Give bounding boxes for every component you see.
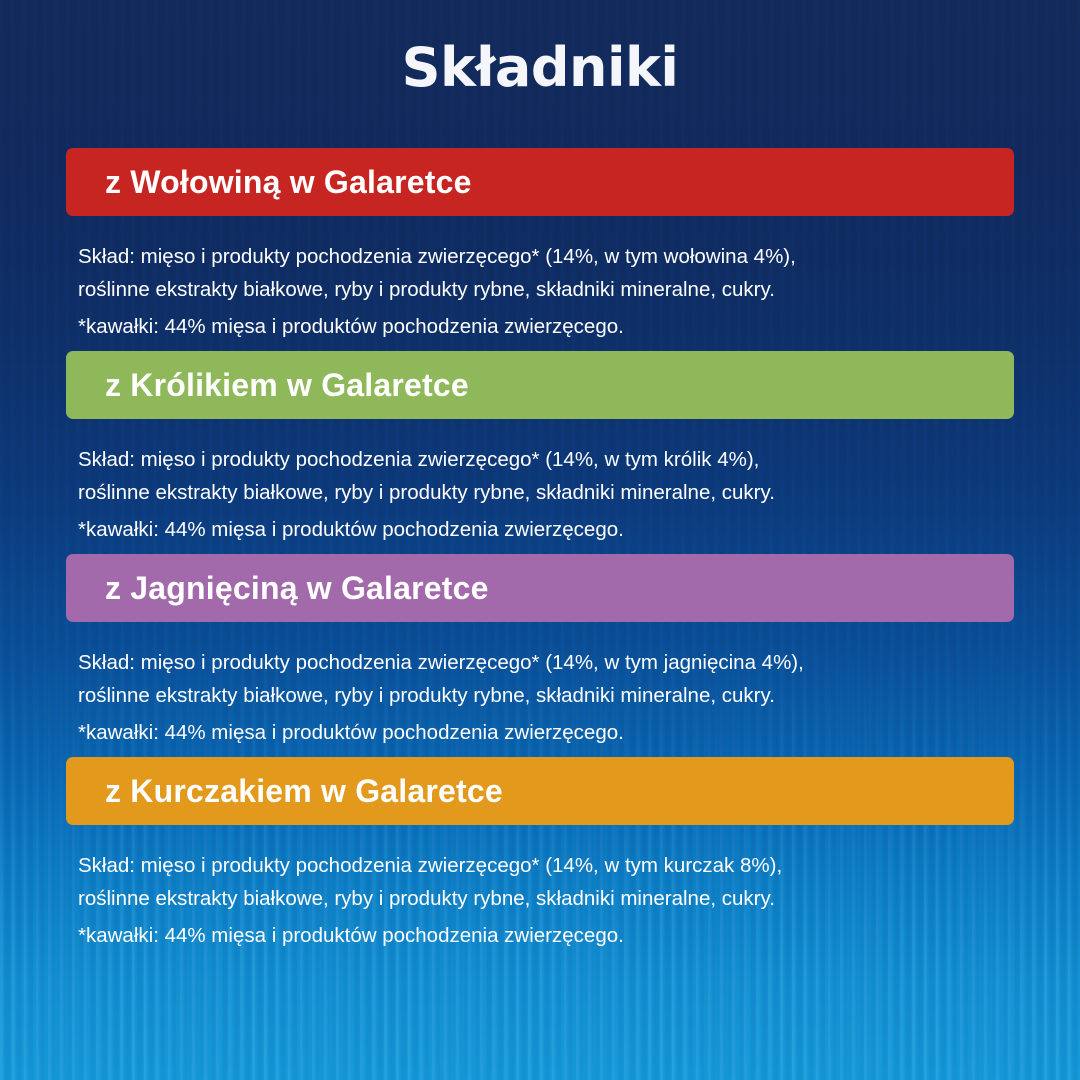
variant-chicken: z Kurczakiem w Galaretce Skład: mięso i … bbox=[0, 757, 1080, 952]
variant-ingredients-rabbit: Skład: mięso i produkty pochodzenia zwie… bbox=[0, 419, 1080, 546]
ingredients-line-1: Skład: mięso i produkty pochodzenia zwie… bbox=[78, 646, 1010, 679]
variant-ingredients-chicken: Skład: mięso i produkty pochodzenia zwie… bbox=[0, 825, 1080, 952]
variant-list: z Wołowiną w Galaretce Skład: mięso i pr… bbox=[0, 148, 1080, 960]
variant-banner-label-rabbit: z Królikiem w Galaretce bbox=[66, 367, 469, 404]
variant-beef: z Wołowiną w Galaretce Skład: mięso i pr… bbox=[0, 148, 1080, 343]
variant-banner-beef: z Wołowiną w Galaretce bbox=[66, 148, 1014, 216]
ingredients-line-1: Skład: mięso i produkty pochodzenia zwie… bbox=[78, 849, 1010, 882]
ingredients-line-2: roślinne ekstrakty białkowe, ryby i prod… bbox=[78, 476, 1010, 509]
ingredients-footnote: *kawałki: 44% mięsa i produktów pochodze… bbox=[78, 712, 1010, 749]
variant-banner-chicken: z Kurczakiem w Galaretce bbox=[66, 757, 1014, 825]
ingredients-panel: Składniki z Wołowiną w Galaretce Skład: … bbox=[0, 0, 1080, 1080]
variant-banner-lamb: z Jagnięciną w Galaretce bbox=[66, 554, 1014, 622]
variant-lamb: z Jagnięciną w Galaretce Skład: mięso i … bbox=[0, 554, 1080, 749]
ingredients-line-2: roślinne ekstrakty białkowe, ryby i prod… bbox=[78, 273, 1010, 306]
ingredients-line-1: Skład: mięso i produkty pochodzenia zwie… bbox=[78, 240, 1010, 273]
variant-banner-label-lamb: z Jagnięciną w Galaretce bbox=[66, 570, 489, 607]
ingredients-footnote: *kawałki: 44% mięsa i produktów pochodze… bbox=[78, 509, 1010, 546]
variant-ingredients-beef: Skład: mięso i produkty pochodzenia zwie… bbox=[0, 216, 1080, 343]
ingredients-line-1: Skład: mięso i produkty pochodzenia zwie… bbox=[78, 443, 1010, 476]
variant-banner-rabbit: z Królikiem w Galaretce bbox=[66, 351, 1014, 419]
ingredients-footnote: *kawałki: 44% mięsa i produktów pochodze… bbox=[78, 915, 1010, 952]
variant-ingredients-lamb: Skład: mięso i produkty pochodzenia zwie… bbox=[0, 622, 1080, 749]
ingredients-footnote: *kawałki: 44% mięsa i produktów pochodze… bbox=[78, 306, 1010, 343]
variant-rabbit: z Królikiem w Galaretce Skład: mięso i p… bbox=[0, 351, 1080, 546]
ingredients-line-2: roślinne ekstrakty białkowe, ryby i prod… bbox=[78, 679, 1010, 712]
variant-banner-label-beef: z Wołowiną w Galaretce bbox=[66, 164, 472, 201]
variant-banner-label-chicken: z Kurczakiem w Galaretce bbox=[66, 773, 503, 810]
page-title: Składniki bbox=[0, 36, 1080, 99]
ingredients-line-2: roślinne ekstrakty białkowe, ryby i prod… bbox=[78, 882, 1010, 915]
